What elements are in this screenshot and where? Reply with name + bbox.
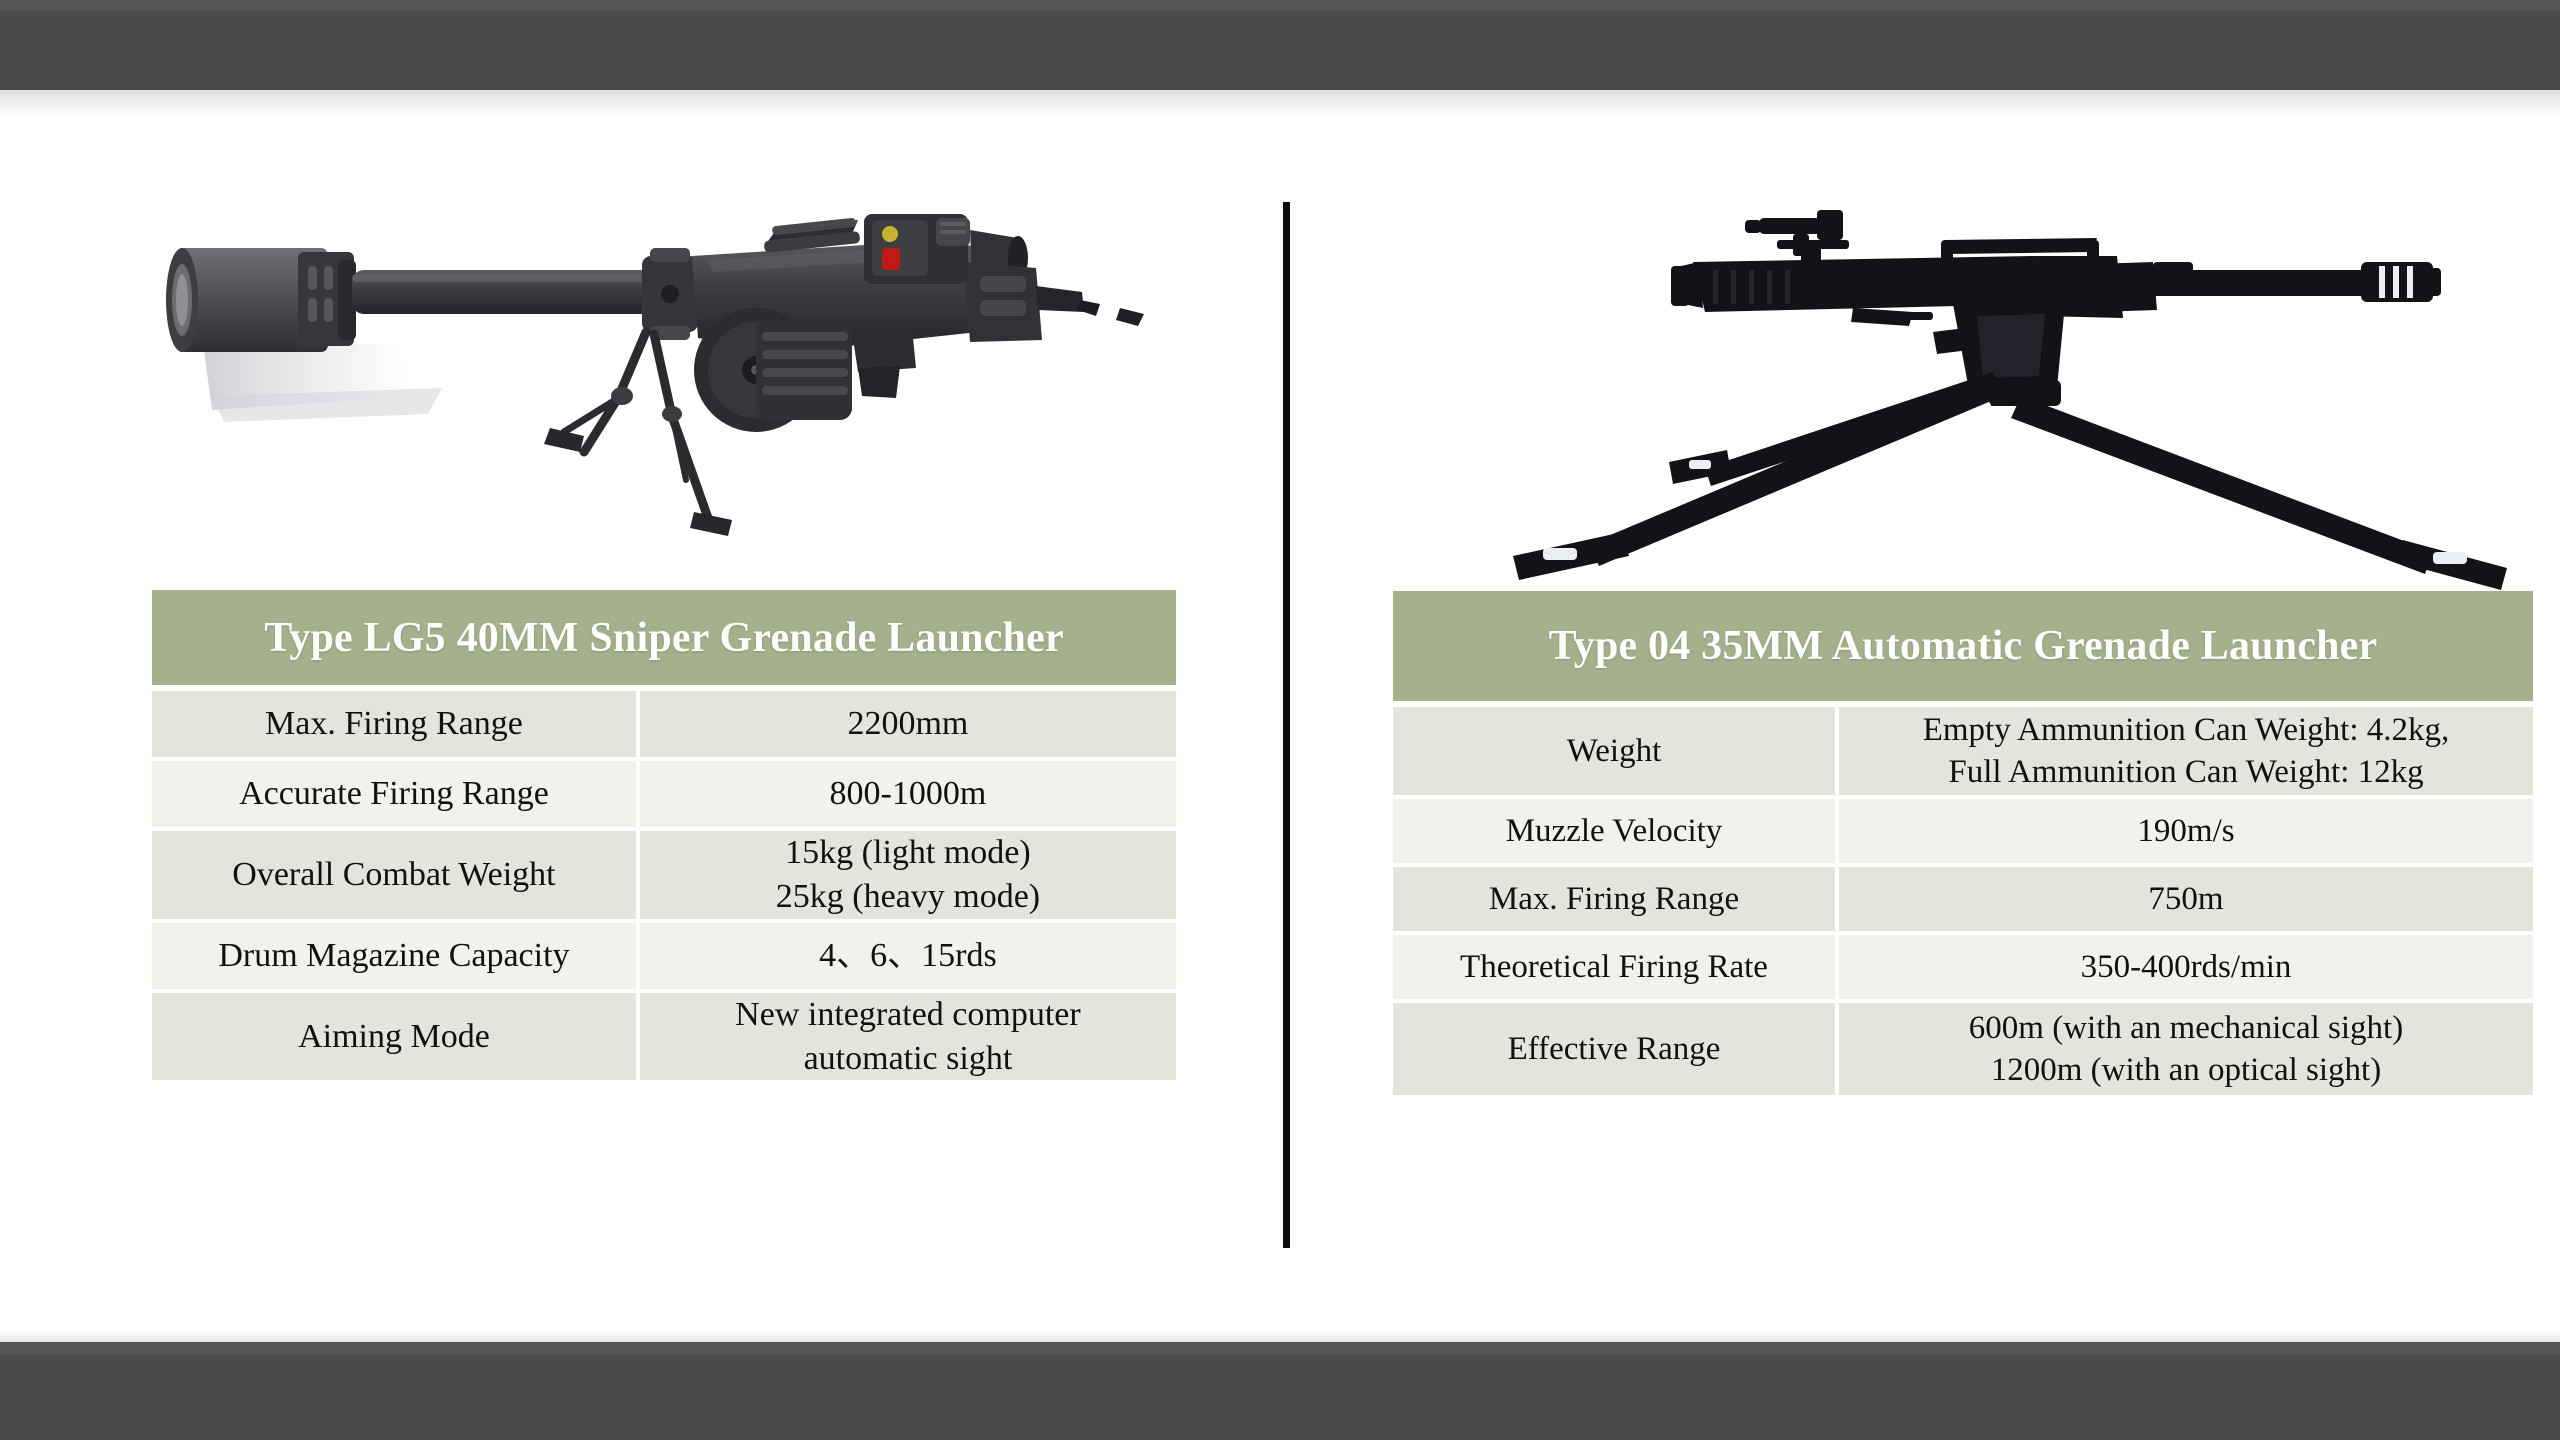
spec-label: Accurate Firing Range: [152, 761, 640, 831]
spec-label: Aiming Mode: [152, 993, 640, 1080]
table-row: Overall Combat Weight 15kg (light mode) …: [152, 831, 1176, 923]
spec-label: Max. Firing Range: [152, 691, 640, 761]
type-04-35mm-automatic-grenade-launcher-photo: [1393, 200, 2533, 591]
left-weapon-panel: Type LG5 40MM Sniper Grenade Launcher Ma…: [152, 200, 1176, 1080]
type04-photo-container: [1393, 200, 2533, 591]
table-row: Effective Range 600m (with an mechanical…: [1393, 1003, 2533, 1095]
spec-value: 4、6、15rds: [640, 923, 1176, 993]
spec-label: Max. Firing Range: [1393, 867, 1839, 935]
right-weapon-panel: Type 04 35MM Automatic Grenade Launcher …: [1393, 200, 2533, 1095]
spec-label: Weight: [1393, 707, 1839, 799]
spec-label: Effective Range: [1393, 1003, 1839, 1095]
spec-label: Theoretical Firing Rate: [1393, 935, 1839, 1003]
table-row: Max. Firing Range 2200mm: [152, 691, 1176, 761]
spec-value: 750m: [1839, 867, 2533, 935]
table-row: Weight Empty Ammunition Can Weight: 4.2k…: [1393, 707, 2533, 799]
spec-value: 190m/s: [1839, 799, 2533, 867]
table-row: Muzzle Velocity 190m/s: [1393, 799, 2533, 867]
column-divider: [1283, 202, 1290, 1248]
right-weapon-title: Type 04 35MM Automatic Grenade Launcher: [1393, 591, 2533, 701]
spec-value: 800-1000m: [640, 761, 1176, 831]
top-letterbox-bar: [0, 0, 2560, 90]
table-row: Aiming Mode New integrated computer auto…: [152, 993, 1176, 1080]
type-lg5-40mm-sniper-grenade-launcher-photo: [152, 200, 1176, 590]
spec-label: Overall Combat Weight: [152, 831, 640, 923]
spec-label: Muzzle Velocity: [1393, 799, 1839, 867]
spec-value: Empty Ammunition Can Weight: 4.2kg, Full…: [1839, 707, 2533, 799]
lg5-photo-container: [152, 200, 1176, 590]
table-row: Drum Magazine Capacity 4、6、15rds: [152, 923, 1176, 993]
right-spec-table: Weight Empty Ammunition Can Weight: 4.2k…: [1393, 707, 2533, 1095]
bottom-letterbox-bar: [0, 1342, 2560, 1440]
table-row: Accurate Firing Range 800-1000m: [152, 761, 1176, 831]
left-weapon-title: Type LG5 40MM Sniper Grenade Launcher: [152, 590, 1176, 685]
spec-value: New integrated computer automatic sight: [640, 993, 1176, 1080]
slide-canvas: Type LG5 40MM Sniper Grenade Launcher Ma…: [0, 0, 2560, 1440]
table-row: Theoretical Firing Rate 350-400rds/min: [1393, 935, 2533, 1003]
top-bar-fade: [0, 90, 2560, 116]
bottom-bar-fade: [0, 1330, 2560, 1342]
table-row: Max. Firing Range 750m: [1393, 867, 2533, 935]
spec-value: 600m (with an mechanical sight) 1200m (w…: [1839, 1003, 2533, 1095]
spec-value: 15kg (light mode) 25kg (heavy mode): [640, 831, 1176, 923]
left-spec-table: Max. Firing Range 2200mm Accurate Firing…: [152, 691, 1176, 1080]
spec-label: Drum Magazine Capacity: [152, 923, 640, 993]
spec-value: 2200mm: [640, 691, 1176, 761]
spec-value: 350-400rds/min: [1839, 935, 2533, 1003]
